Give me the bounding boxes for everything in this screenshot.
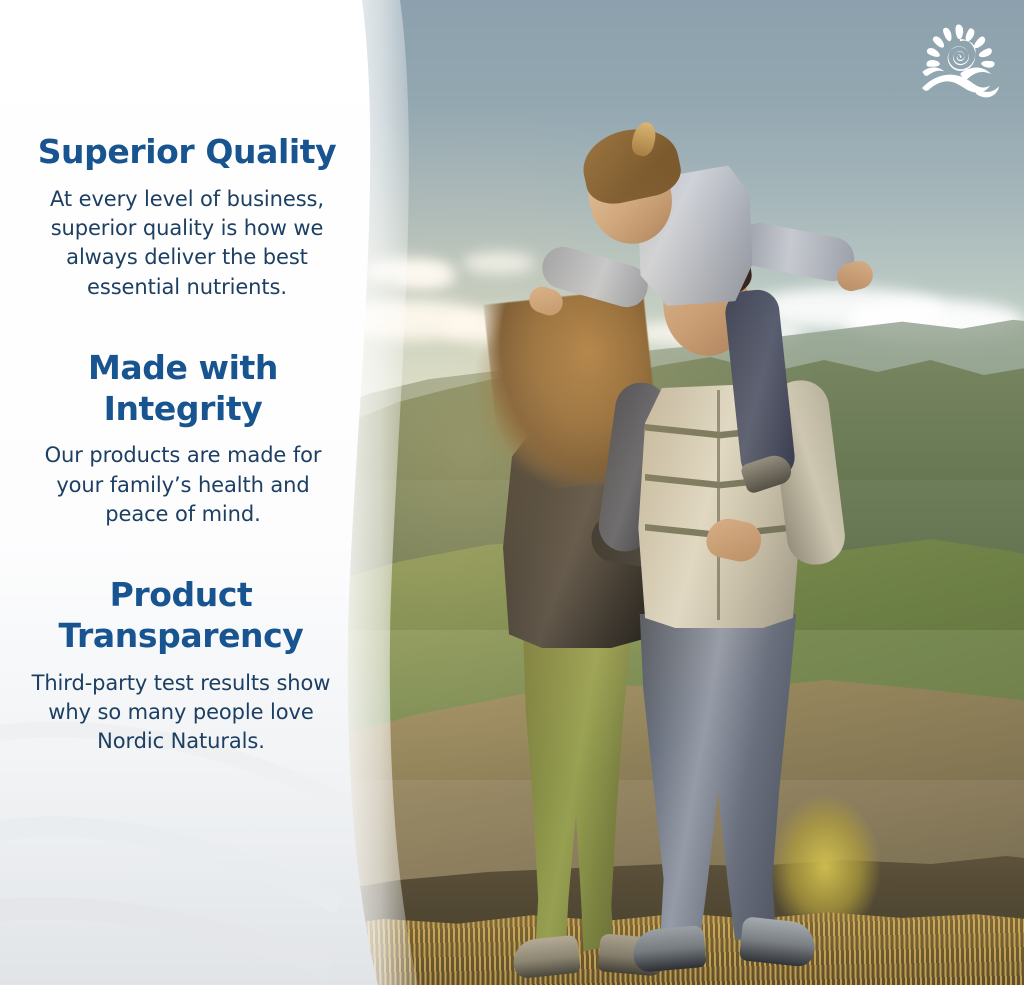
vest-zipper [717, 390, 720, 620]
cloud-shape [395, 268, 455, 288]
value-body: Third-party test results show why so man… [20, 669, 342, 757]
values-column: Superior Quality At every level of busin… [0, 0, 360, 985]
value-block-made-with-integrity: Made with Integrity Our products are mad… [6, 348, 360, 529]
family-on-mountain-photo [345, 0, 1024, 985]
value-body: At every level of business, superior qua… [32, 185, 342, 303]
value-headline: Made with Integrity [24, 348, 342, 429]
sun-wave-logo-icon [914, 18, 1006, 110]
value-body: Our products are made for your family’s … [24, 441, 342, 529]
value-block-superior-quality: Superior Quality At every level of busin… [14, 132, 360, 302]
cloud-shape [463, 252, 535, 274]
promo-graphic: Superior Quality At every level of busin… [0, 0, 1024, 985]
value-headline: Product Transparency [20, 575, 342, 656]
value-block-product-transparency: Product Transparency Third-party test re… [2, 575, 360, 756]
nordic-naturals-logo [914, 18, 1006, 110]
yellow-shrub [770, 795, 880, 915]
value-headline: Superior Quality [32, 132, 342, 173]
